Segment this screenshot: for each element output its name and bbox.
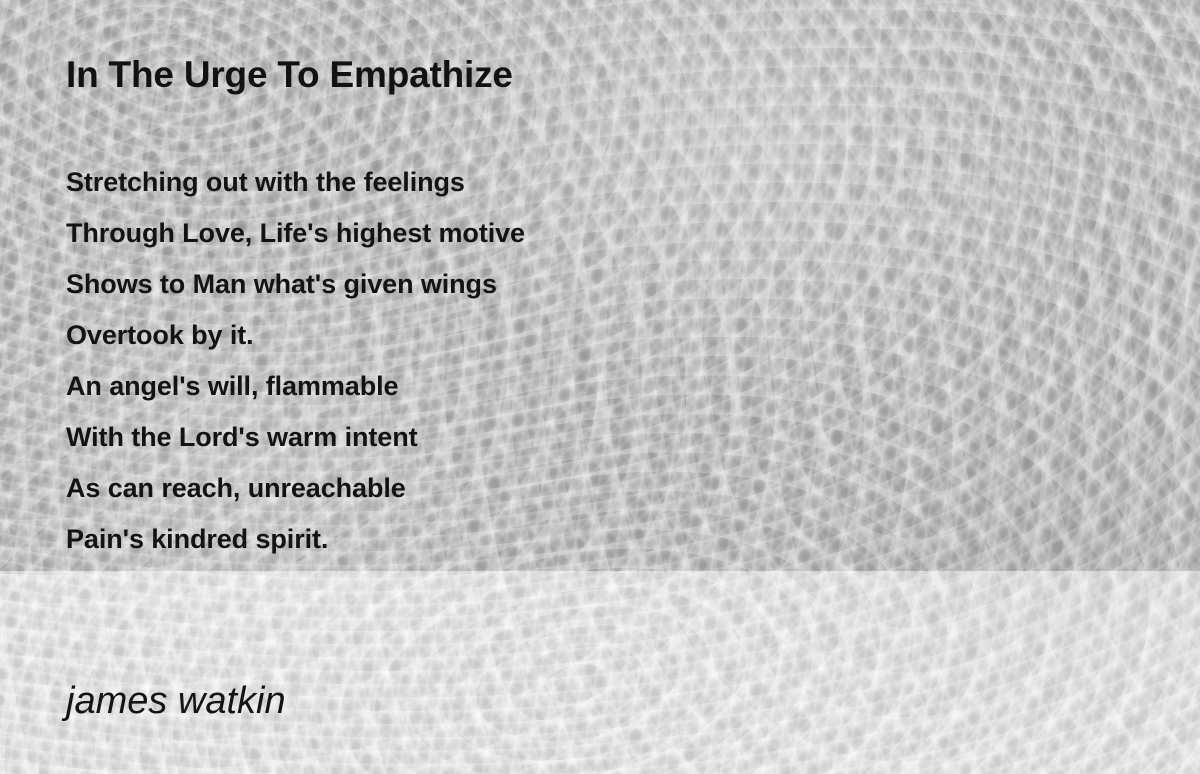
poem-card: In The Urge To Empathize Stretching out …: [0, 0, 1200, 774]
poem-line: With the Lord's warm intent: [66, 412, 525, 463]
poem-body: Stretching out with the feelings Through…: [66, 157, 525, 565]
poem-line: Stretching out with the feelings: [66, 157, 525, 208]
poem-line: Shows to Man what's given wings: [66, 259, 525, 310]
poem-line: An angel's will, flammable: [66, 361, 525, 412]
poem-content: In The Urge To Empathize Stretching out …: [0, 0, 1200, 774]
poem-author: james watkin: [66, 678, 286, 724]
poem-line: Pain's kindred spirit.: [66, 514, 525, 565]
poem-line: As can reach, unreachable: [66, 463, 525, 514]
poem-title: In The Urge To Empathize: [66, 53, 513, 97]
poem-line: Overtook by it.: [66, 310, 525, 361]
poem-line: Through Love, Life's highest motive: [66, 208, 525, 259]
